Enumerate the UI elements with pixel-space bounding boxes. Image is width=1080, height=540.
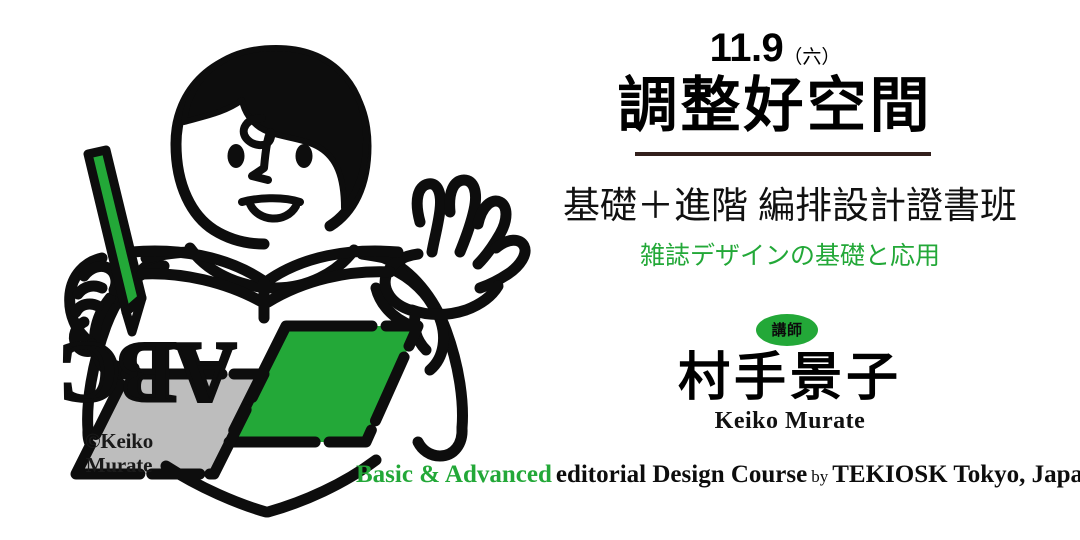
book-text-abc: ABC [60,325,236,421]
illustration-credit: ©Keiko Murate [44,430,194,477]
footer-tagline: Basic & Advanced editorial Design Course… [356,462,1072,487]
instructor-badge-label: 講師 [771,323,802,338]
right-forearm [430,314,444,370]
event-date-number: 11.9 [710,26,784,70]
finger-ring [76,304,98,312]
footer-green-text: Basic & Advanced [356,461,552,488]
svg-text:ABC: ABC [60,325,236,421]
course-subtitle-right: 編排設計證書班 [758,184,1017,227]
footer-organization: TEKIOSK Tokyo, Japan [832,461,1080,488]
page-title: 調整好空間 [540,76,1010,136]
title-underline-rule [635,152,931,156]
instructor-name-cjk: 村手景子 [540,352,1040,404]
event-date-weekday: （六） [783,46,840,68]
course-subtitle: 基礎＋進階編排設計證書班 [540,186,1040,227]
instructor-name-romaji: Keiko Murate [540,408,1040,435]
course-subtitle-japanese: 雑誌デザインの基礎と応用 [540,236,1040,272]
finger-middle [78,286,102,294]
footer-black-text: editorial Design Course [556,461,807,488]
credit-line-2: Murate [44,454,194,478]
right-sleeve-cuff [418,428,462,456]
hair-shape [184,48,366,208]
event-date: 11.9（六） [540,26,1010,71]
content-column: 11.9（六） 調整好空間 基礎＋進階編排設計證書班 雑誌デザインの基礎と応用 … [540,0,1080,540]
head-outline-lower [176,144,264,244]
instructor-badge: 講師 [756,314,818,346]
course-subtitle-left: 基礎＋進階 [563,184,748,227]
right-eye [296,144,313,168]
hand-finger-3 [478,201,506,264]
hand-finger-1 [417,184,440,252]
poster-canvas: ABC ©Keiko Murate 11.9（六） 調整好空間 基礎＋進階編排設… [0,0,1080,540]
mouth-smile [250,204,296,219]
footer-by-text: by [811,467,828,486]
hand-finger-2 [450,180,476,252]
credit-line-1: ©Keiko [44,430,194,454]
left-eye [228,144,245,168]
